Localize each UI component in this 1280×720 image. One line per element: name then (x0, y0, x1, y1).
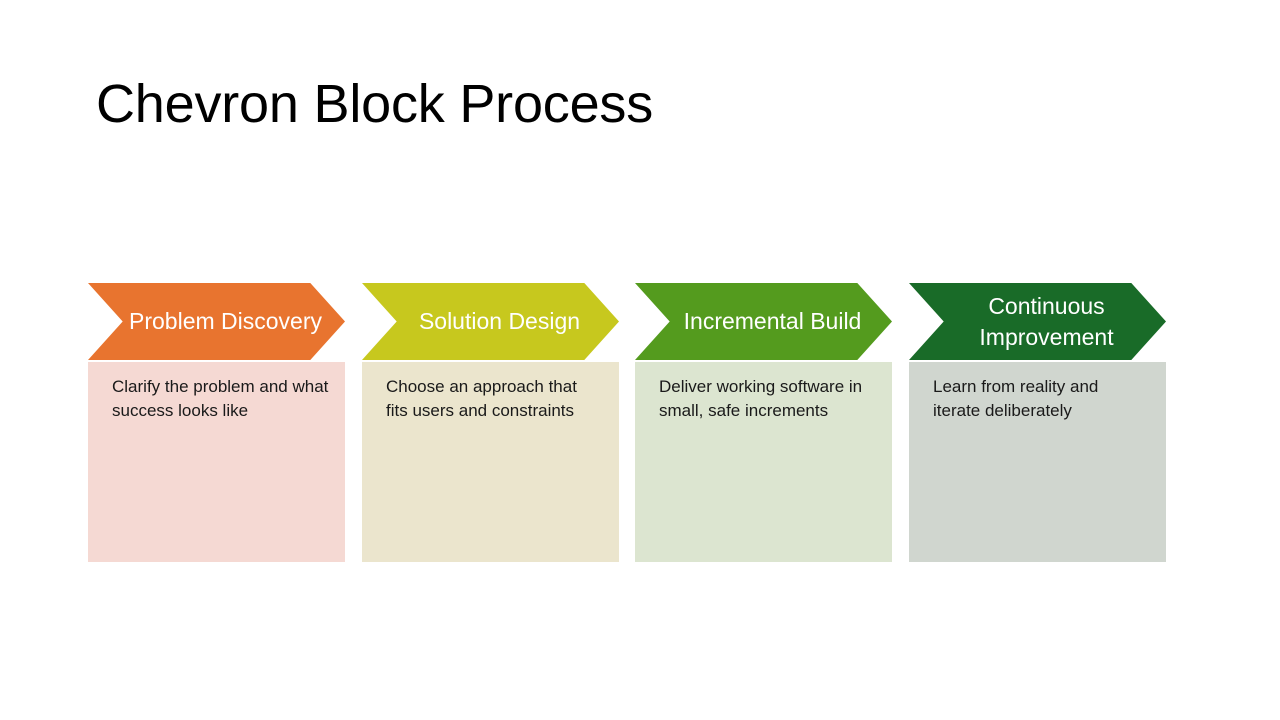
stage-body-incremental-build: Deliver working software in small, safe … (635, 362, 892, 562)
stage-body-solution-design: Choose an approach that fits users and c… (362, 362, 619, 562)
stage-title-problem-discovery: Problem Discovery (88, 306, 345, 337)
process-stage: Incremental BuildDeliver working softwar… (635, 283, 892, 563)
stage-chevron-solution-design[interactable]: Solution Design (362, 283, 619, 360)
slide-canvas: Chevron Block Process Problem DiscoveryC… (0, 0, 1280, 720)
process-stage: Solution DesignChoose an approach that f… (362, 283, 619, 563)
stage-description-problem-discovery: Clarify the problem and what success loo… (112, 375, 329, 422)
stage-title-incremental-build: Incremental Build (635, 306, 892, 337)
chevron-process-diagram: Problem DiscoveryClarify the problem and… (0, 283, 1280, 563)
stage-chevron-problem-discovery[interactable]: Problem Discovery (88, 283, 345, 360)
stage-title-solution-design: Solution Design (362, 306, 619, 337)
stage-description-continuous-improvement: Learn from reality and iterate deliberat… (933, 375, 1150, 422)
stage-chevron-continuous-improvement[interactable]: Continuous Improvement (909, 283, 1166, 360)
stage-description-solution-design: Choose an approach that fits users and c… (386, 375, 603, 422)
stage-body-continuous-improvement: Learn from reality and iterate deliberat… (909, 362, 1166, 562)
stage-chevron-incremental-build[interactable]: Incremental Build (635, 283, 892, 360)
stage-body-problem-discovery: Clarify the problem and what success loo… (88, 362, 345, 562)
stage-description-incremental-build: Deliver working software in small, safe … (659, 375, 876, 422)
page-title: Chevron Block Process (96, 70, 653, 138)
process-stage: Continuous ImprovementLearn from reality… (909, 283, 1166, 563)
stage-title-continuous-improvement: Continuous Improvement (909, 291, 1166, 353)
process-stage: Problem DiscoveryClarify the problem and… (88, 283, 345, 563)
